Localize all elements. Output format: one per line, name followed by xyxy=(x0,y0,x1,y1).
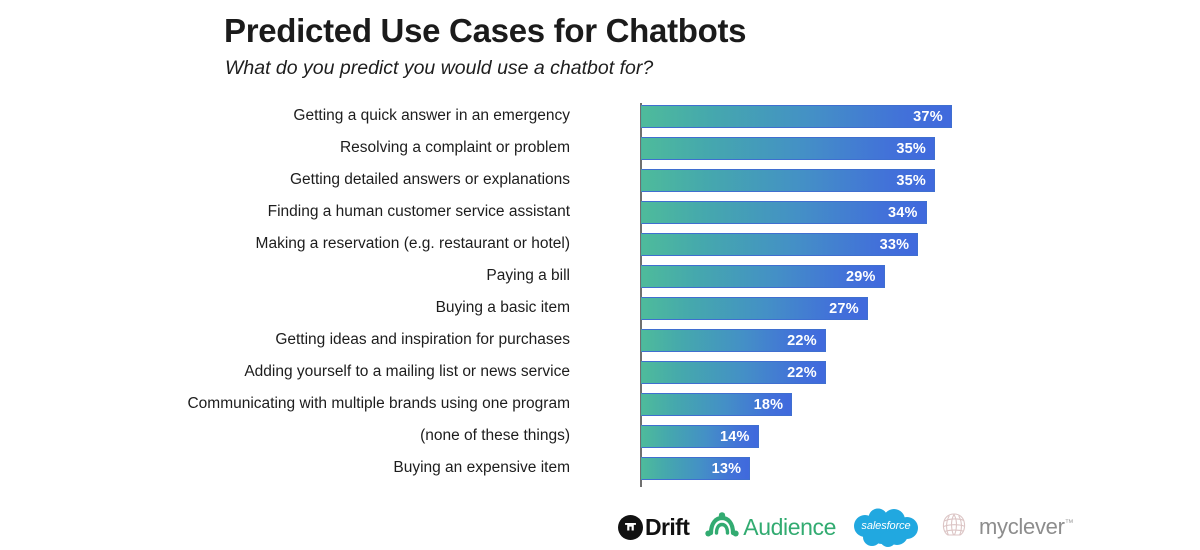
bar-container: 34% xyxy=(641,201,927,224)
bar-container: 29% xyxy=(641,265,885,288)
bar-container: 22% xyxy=(641,329,826,352)
salesforce-cloud-icon: salesforce xyxy=(852,507,920,547)
bar-value-label: 33% xyxy=(880,234,910,255)
bar: 14% xyxy=(641,425,759,448)
category-label: Resolving a complaint or problem xyxy=(340,132,570,164)
bar-value-label: 22% xyxy=(787,362,817,383)
bar-container: 35% xyxy=(641,137,935,160)
category-label: Buying an expensive item xyxy=(393,452,570,484)
bar-value-label: 27% xyxy=(829,298,859,319)
bar-value-label: 22% xyxy=(787,330,817,351)
logo-myclever-word: myclever xyxy=(979,514,1065,539)
bar-row: Adding yourself to a mailing list or new… xyxy=(0,356,1200,388)
bar: 35% xyxy=(641,137,935,160)
logo-drift: Drift xyxy=(618,507,689,547)
bar-row: Making a reservation (e.g. restaurant or… xyxy=(0,228,1200,260)
bar-value-label: 34% xyxy=(888,202,918,223)
bar-row: Finding a human customer service assista… xyxy=(0,196,1200,228)
chart-subtitle: What do you predict you would use a chat… xyxy=(225,57,653,80)
bar: 27% xyxy=(641,297,868,320)
logo-audience-text: Audience xyxy=(743,516,836,539)
category-label: Getting detailed answers or explanations xyxy=(290,164,570,196)
bar-row: Resolving a complaint or problem35% xyxy=(0,132,1200,164)
bar-container: 18% xyxy=(641,393,792,416)
trademark-symbol: ™ xyxy=(1065,518,1074,528)
logo-salesforce: salesforce xyxy=(852,507,920,547)
category-label: Adding yourself to a mailing list or new… xyxy=(244,356,570,388)
bar-row: Paying a bill29% xyxy=(0,260,1200,292)
logo-myclever: myclever™ xyxy=(936,507,1073,547)
bar-value-label: 14% xyxy=(720,426,750,447)
bar-row: Getting a quick answer in an emergency37… xyxy=(0,100,1200,132)
category-label: Making a reservation (e.g. restaurant or… xyxy=(256,228,570,260)
bar-container: 14% xyxy=(641,425,759,448)
bar: 35% xyxy=(641,169,935,192)
brain-icon xyxy=(936,510,972,545)
category-label: Getting ideas and inspiration for purcha… xyxy=(275,324,570,356)
bar-container: 27% xyxy=(641,297,868,320)
bar-container: 13% xyxy=(641,457,750,480)
category-label: Finding a human customer service assista… xyxy=(268,196,570,228)
bar-container: 35% xyxy=(641,169,935,192)
logo-audience: Audience xyxy=(705,507,836,547)
drift-icon xyxy=(618,515,643,540)
bar: 34% xyxy=(641,201,927,224)
bar: 22% xyxy=(641,329,826,352)
bar: 29% xyxy=(641,265,885,288)
audience-icon xyxy=(705,512,739,543)
bar: 33% xyxy=(641,233,918,256)
page-title: Predicted Use Cases for Chatbots xyxy=(224,12,746,50)
bar-value-label: 35% xyxy=(896,138,926,159)
category-label: Paying a bill xyxy=(486,260,570,292)
logo-strip: Drift Audience xyxy=(618,505,1073,549)
category-label: Communicating with multiple brands using… xyxy=(187,388,570,420)
bar: 18% xyxy=(641,393,792,416)
bar-value-label: 35% xyxy=(896,170,926,191)
bar-row: Buying an expensive item13% xyxy=(0,452,1200,484)
category-label: Getting a quick answer in an emergency xyxy=(293,100,570,132)
bar-value-label: 18% xyxy=(754,394,784,415)
bar-row: Buying a basic item27% xyxy=(0,292,1200,324)
bar-value-label: 37% xyxy=(913,106,943,127)
bar-row: Communicating with multiple brands using… xyxy=(0,388,1200,420)
bar-row: (none of these things)14% xyxy=(0,420,1200,452)
bar-value-label: 29% xyxy=(846,266,876,287)
bar-container: 33% xyxy=(641,233,918,256)
bar: 13% xyxy=(641,457,750,480)
bar-container: 37% xyxy=(641,105,952,128)
bar-row: Getting ideas and inspiration for purcha… xyxy=(0,324,1200,356)
chart-page: Predicted Use Cases for Chatbots What do… xyxy=(0,0,1200,550)
category-label: Buying a basic item xyxy=(436,292,570,324)
bar-value-label: 13% xyxy=(712,458,742,479)
bar: 22% xyxy=(641,361,826,384)
logo-salesforce-text: salesforce xyxy=(852,520,920,532)
bar-row: Getting detailed answers or explanations… xyxy=(0,164,1200,196)
logo-drift-text: Drift xyxy=(645,516,689,539)
category-label: (none of these things) xyxy=(420,420,570,452)
bar: 37% xyxy=(641,105,952,128)
logo-myclever-text: myclever™ xyxy=(979,516,1073,538)
bar-container: 22% xyxy=(641,361,826,384)
bar-chart-plot-area: Getting a quick answer in an emergency37… xyxy=(0,100,1200,492)
